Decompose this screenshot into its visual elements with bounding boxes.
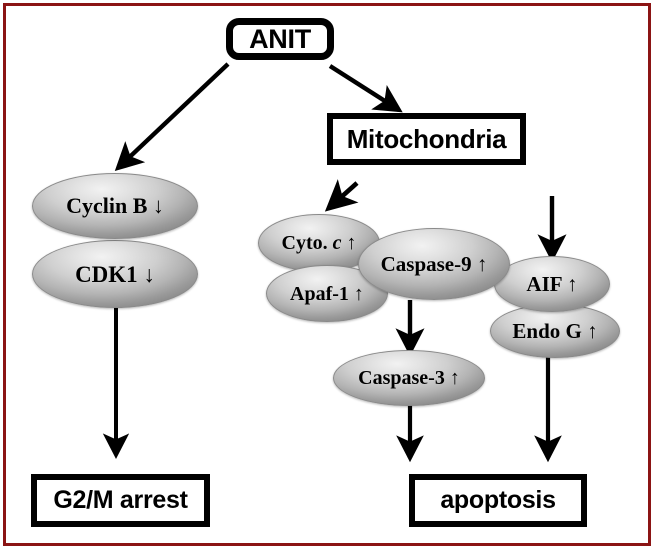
arrow-anit-to-mitochondria [330,66,399,110]
box-apoptosis-label: apoptosis [440,486,555,515]
node-endo-g-label: Endo G ↑ [512,321,597,342]
node-aif[interactable]: AIF ↑ [494,256,610,312]
node-cyto-c-label: Cyto. c ↑ [282,233,357,253]
node-apaf-1-label: Apaf-1 ↑ [290,284,364,304]
arrow-mitochondria-to-cytoc [329,183,357,208]
box-mitochondria[interactable]: Mitochondria [327,113,526,165]
diagram-canvas: ANIT Mitochondria G2/M arrest apoptosis … [0,0,654,549]
node-cdk1-label: CDK1 ↓ [75,263,155,286]
node-cyclin-b[interactable]: Cyclin B ↓ [32,173,198,239]
arrow-anit-to-cyclinb [118,64,228,168]
node-cdk1[interactable]: CDK1 ↓ [32,240,198,308]
node-caspase-3-label: Caspase-3 ↑ [358,368,460,388]
node-aif-label: AIF ↑ [526,274,577,295]
box-anit[interactable]: ANIT [226,18,334,60]
node-endo-g[interactable]: Endo G ↑ [490,304,620,358]
box-apoptosis[interactable]: apoptosis [409,474,587,527]
box-anit-label: ANIT [249,24,311,55]
box-g2m-arrest-label: G2/M arrest [53,486,187,515]
box-g2m-arrest[interactable]: G2/M arrest [31,474,210,527]
node-caspase-9-label: Caspase-9 ↑ [381,254,488,275]
node-cyclin-b-label: Cyclin B ↓ [66,195,164,217]
box-mitochondria-label: Mitochondria [347,124,507,155]
node-caspase-3[interactable]: Caspase-3 ↑ [333,350,485,406]
node-caspase-9[interactable]: Caspase-9 ↑ [358,228,510,300]
